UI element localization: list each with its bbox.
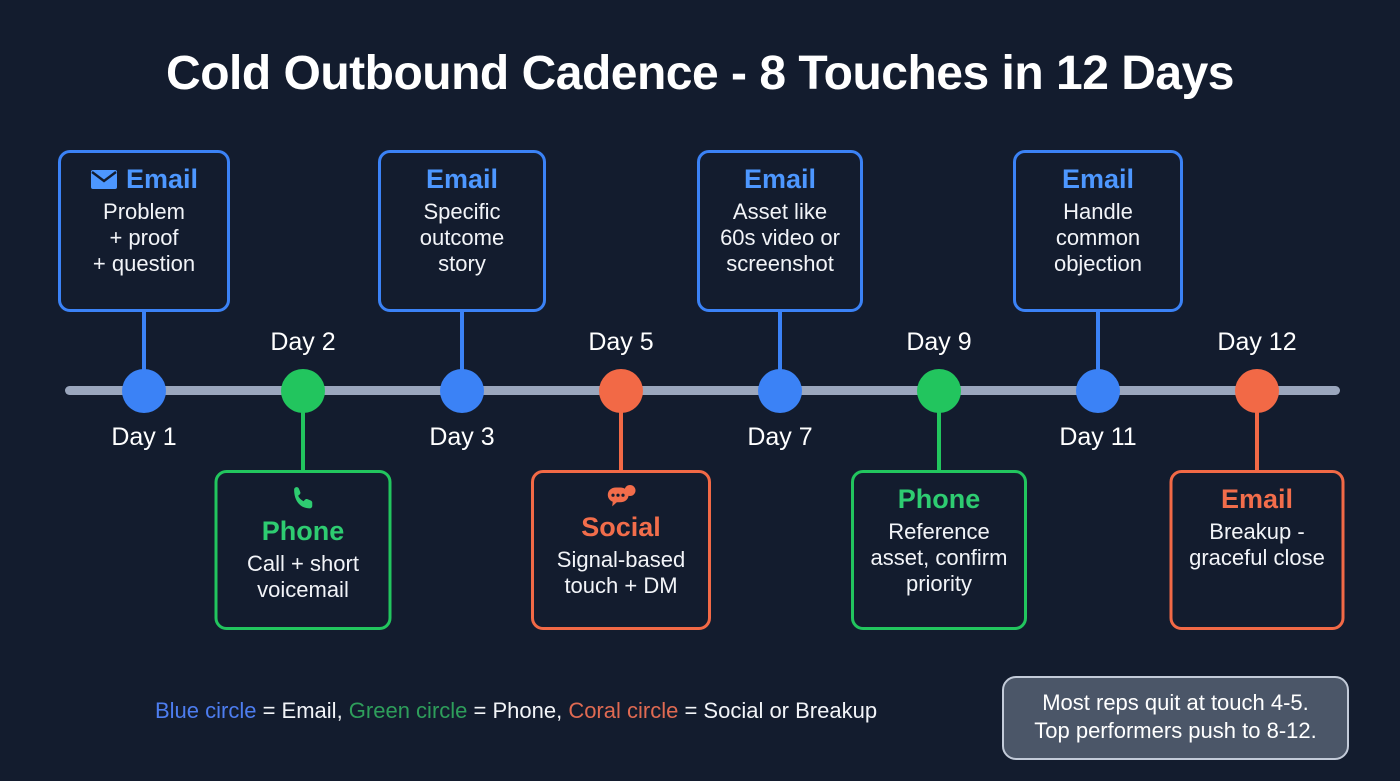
chat-bubble-icon: [605, 484, 637, 510]
timeline-node-day-9[interactable]: [917, 369, 961, 413]
channel-label: Social: [581, 512, 661, 543]
card-detail: Breakup - graceful close: [1185, 519, 1330, 570]
legend-blue-swatch-label: Blue circle: [155, 698, 256, 723]
channel-label: Email: [1221, 484, 1293, 515]
day-label: Day 11: [1059, 423, 1136, 452]
card-detail: Call + short voicemail: [230, 551, 377, 602]
card-heading: Email: [393, 164, 531, 195]
card-heading: Phone: [230, 484, 377, 547]
card-detail: Problem + proof + question: [73, 199, 215, 276]
channel-label: Phone: [262, 516, 345, 547]
card-heading: Phone: [866, 484, 1012, 515]
timeline-node-day-1[interactable]: [122, 369, 166, 413]
channel-label: Email: [126, 164, 198, 195]
timeline-node-day-2[interactable]: [281, 369, 325, 413]
timeline-node-day-7[interactable]: [758, 369, 802, 413]
day-label: Day 7: [747, 423, 812, 452]
legend-green-swatch-label: Green circle: [349, 698, 468, 723]
callout-note: Most reps quit at touch 4-5. Top perform…: [1002, 676, 1349, 760]
legend-green-meaning: = Phone,: [467, 698, 568, 723]
legend-coral-meaning: = Social or Breakup: [678, 698, 877, 723]
legend-coral-swatch-label: Coral circle: [568, 698, 678, 723]
card-detail: Reference asset, confirm priority: [866, 519, 1012, 596]
card-detail: Specific outcome story: [393, 199, 531, 276]
card-heading: Email: [1185, 484, 1330, 515]
touch-card-7[interactable]: EmailHandle common objection: [1013, 150, 1183, 312]
day-label: Day 5: [588, 328, 653, 357]
infographic-canvas: Cold Outbound Cadence - 8 Touches in 12 …: [0, 0, 1400, 781]
timeline-axis: [65, 386, 1340, 395]
touch-card-5[interactable]: EmailAsset like 60s video or screenshot: [697, 150, 863, 312]
touch-card-6[interactable]: PhoneReference asset, confirm priority: [851, 470, 1027, 630]
timeline-node-day-3[interactable]: [440, 369, 484, 413]
timeline-node-day-5[interactable]: [599, 369, 643, 413]
day-label: Day 2: [270, 328, 335, 357]
channel-label: Email: [744, 164, 816, 195]
legend: Blue circle = Email, Green circle = Phon…: [155, 698, 877, 724]
card-detail: Signal-based touch + DM: [546, 547, 696, 598]
card-heading: Email: [712, 164, 848, 195]
touch-card-8[interactable]: EmailBreakup - graceful close: [1170, 470, 1345, 630]
card-heading: Email: [1028, 164, 1168, 195]
legend-blue-meaning: = Email,: [256, 698, 348, 723]
card-detail: Handle common objection: [1028, 199, 1168, 276]
card-heading: Social: [546, 484, 696, 543]
day-label: Day 12: [1217, 328, 1296, 357]
touch-card-3[interactable]: EmailSpecific outcome story: [378, 150, 546, 312]
touch-card-1[interactable]: EmailProblem + proof + question: [58, 150, 230, 312]
day-label: Day 3: [429, 423, 494, 452]
envelope-icon: [90, 169, 118, 190]
phone-icon: [288, 484, 318, 514]
channel-label: Email: [1062, 164, 1134, 195]
day-label: Day 9: [906, 328, 971, 357]
page-title: Cold Outbound Cadence - 8 Touches in 12 …: [0, 46, 1400, 101]
channel-label: Phone: [898, 484, 981, 515]
card-detail: Asset like 60s video or screenshot: [712, 199, 848, 276]
card-heading: Email: [73, 164, 215, 195]
timeline-node-day-11[interactable]: [1076, 369, 1120, 413]
channel-label: Email: [426, 164, 498, 195]
day-label: Day 1: [111, 423, 176, 452]
timeline-node-day-12[interactable]: [1235, 369, 1279, 413]
touch-card-4[interactable]: SocialSignal-based touch + DM: [531, 470, 711, 630]
touch-card-2[interactable]: PhoneCall + short voicemail: [215, 470, 392, 630]
